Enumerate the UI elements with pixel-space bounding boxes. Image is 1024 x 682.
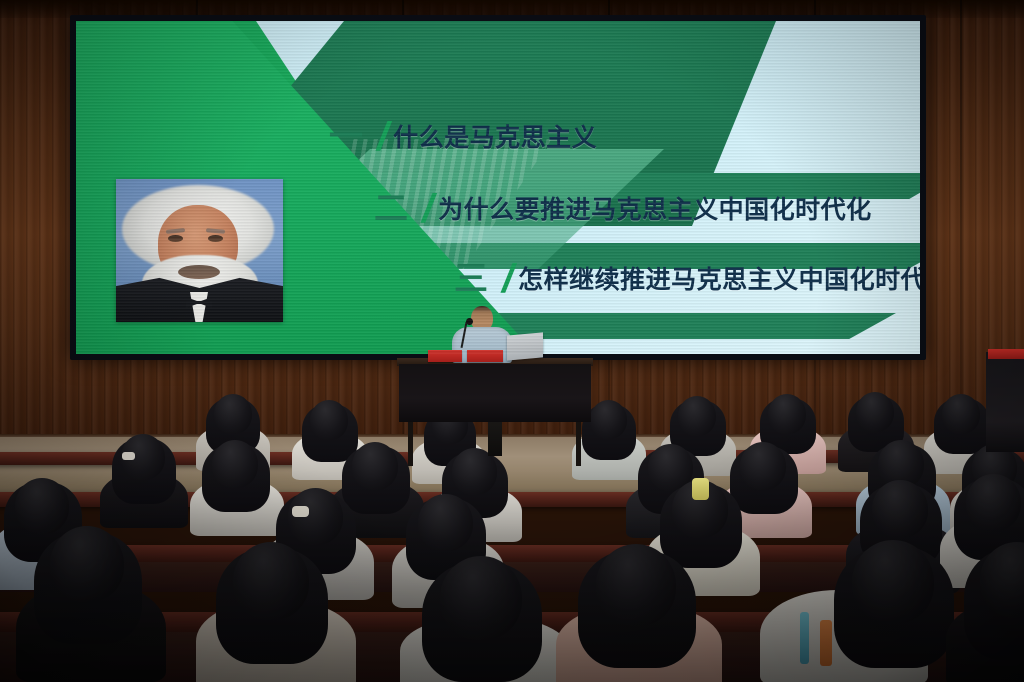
karl-marx-portrait bbox=[116, 179, 283, 322]
slide-item-3-title: 怎样继续推进马克思主义中国化时代化 bbox=[518, 267, 920, 292]
microphone-icon bbox=[466, 318, 473, 325]
laptop-icon bbox=[507, 332, 543, 360]
presenter-table bbox=[399, 364, 591, 422]
led-screen: 一 / 什么是马克思主义 二 / 为什么要推进马克思主义中国化时代化 三 / 怎… bbox=[70, 15, 926, 360]
slide-item-2-number: 二 bbox=[374, 192, 409, 226]
name-card-left bbox=[428, 350, 462, 362]
lecture-hall-photo: 一 / 什么是马克思主义 二 / 为什么要推进马克思主义中国化时代化 三 / 怎… bbox=[0, 0, 1024, 682]
table-leg-right bbox=[576, 420, 581, 466]
slide-item-1-separator: / bbox=[374, 117, 394, 157]
side-podium bbox=[986, 352, 1024, 452]
slide-item-2-separator: / bbox=[419, 189, 439, 229]
slide-item-3-number: 三 bbox=[454, 262, 489, 296]
slide-item-2: 二 / 为什么要推进马克思主义中国化时代化 bbox=[374, 189, 872, 229]
name-card-right bbox=[467, 350, 503, 362]
podium-banner bbox=[988, 349, 1024, 359]
marx-moustache bbox=[178, 265, 220, 279]
slide-item-3: 三 / 怎样继续推进马克思主义中国化时代化 bbox=[454, 259, 920, 299]
marx-eye-right bbox=[208, 235, 223, 242]
marx-eye-left bbox=[168, 235, 183, 242]
slide-item-1: 一 / 什么是马克思主义 bbox=[329, 117, 597, 157]
presentation-slide: 一 / 什么是马克思主义 二 / 为什么要推进马克思主义中国化时代化 三 / 怎… bbox=[76, 21, 920, 354]
slide-item-2-title: 为什么要推进马克思主义中国化时代化 bbox=[438, 197, 872, 222]
slide-item-3-separator: / bbox=[499, 259, 519, 299]
wall-seam bbox=[960, 0, 962, 450]
table-leg-left bbox=[408, 420, 413, 466]
slide-item-1-number: 一 bbox=[329, 120, 364, 154]
slide-item-1-title: 什么是马克思主义 bbox=[393, 125, 597, 150]
